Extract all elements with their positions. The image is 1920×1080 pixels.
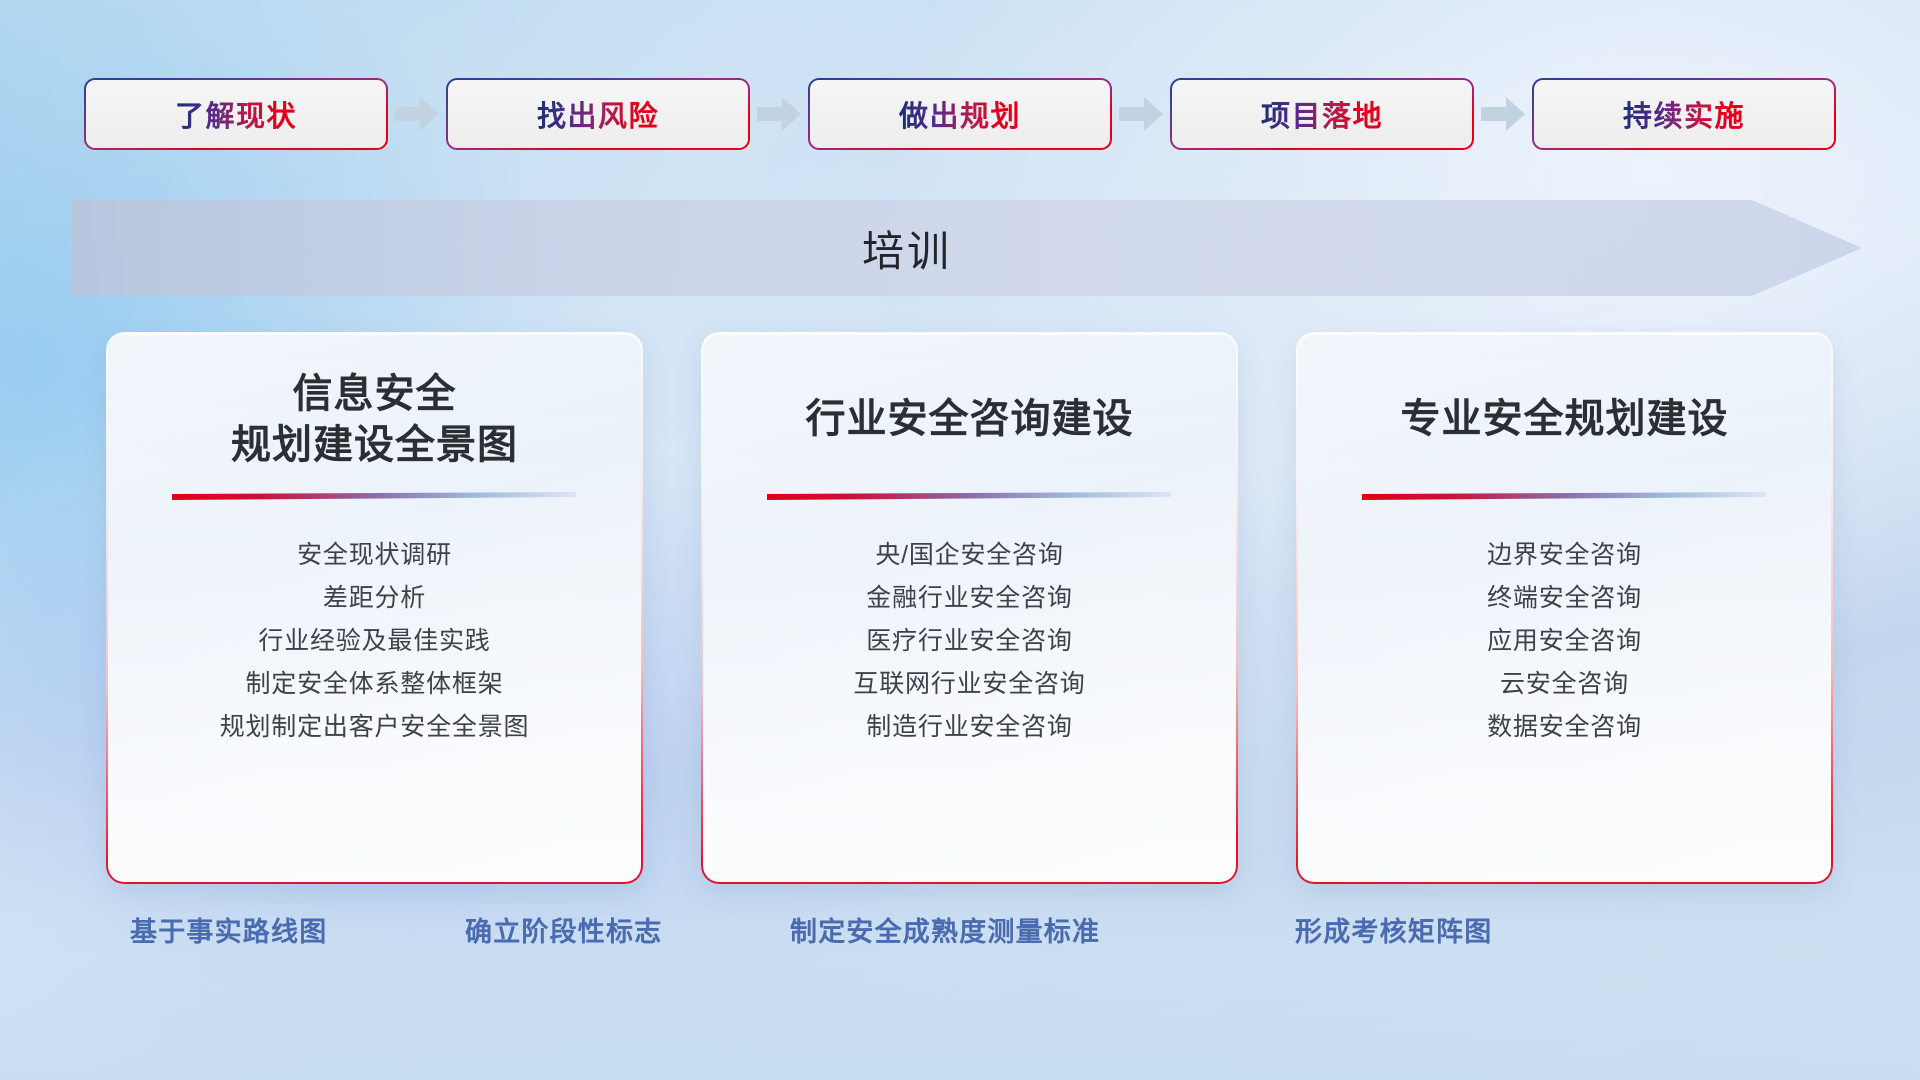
step-chip-2[interactable]: 找出风险 (448, 80, 748, 148)
card-item-list: 安全现状调研 差距分析 行业经验及最佳实践 制定安全体系整体框架 规划制定出客户… (134, 534, 615, 749)
step-label: 持续实施 (1623, 93, 1745, 135)
training-banner: 培训 (72, 200, 1862, 296)
list-item: 互联网行业安全咨询 (729, 663, 1210, 706)
step-label: 做出规划 (899, 93, 1021, 135)
gradient-divider-icon (172, 492, 576, 500)
process-step-row: 了解现状 找出风险 做出规划 项目落地 持续实施 (0, 78, 1920, 150)
list-item: 云安全咨询 (1324, 663, 1805, 706)
list-item: 规划制定出客户安全全景图 (134, 706, 615, 749)
step-chip-3[interactable]: 做出规划 (810, 80, 1110, 148)
gradient-divider-icon (767, 492, 1171, 500)
step-chip-1[interactable]: 了解现状 (86, 80, 386, 148)
step-label: 找出风险 (537, 93, 659, 135)
step-label: 了解现状 (175, 93, 297, 135)
arrow-right-icon (1110, 94, 1172, 134)
card-title: 行业安全咨询建设 (729, 368, 1210, 472)
footer-label: 制定安全成熟度测量标准 (790, 910, 1100, 949)
list-item: 数据安全咨询 (1324, 706, 1805, 749)
step-label: 项目落地 (1261, 93, 1383, 135)
list-item: 终端安全咨询 (1324, 577, 1805, 620)
card-title-line: 行业安全咨询建设 (729, 394, 1210, 445)
step-chip-4[interactable]: 项目落地 (1172, 80, 1472, 148)
footer-label-row: 基于事实路线图 确立阶段性标志 制定安全成熟度测量标准 形成考核矩阵图 (0, 910, 1920, 958)
list-item: 行业经验及最佳实践 (134, 620, 615, 663)
list-item: 边界安全咨询 (1324, 534, 1805, 577)
card-item-list: 央/国企安全咨询 金融行业安全咨询 医疗行业安全咨询 互联网行业安全咨询 制造行… (729, 534, 1210, 749)
banner-title: 培训 (72, 200, 1742, 296)
list-item: 金融行业安全咨询 (729, 577, 1210, 620)
card-title: 专业安全规划建设 (1324, 368, 1805, 472)
card-title-line: 规划建设全景图 (134, 420, 615, 471)
card-title-line: 信息安全 (134, 369, 615, 420)
list-item: 应用安全咨询 (1324, 620, 1805, 663)
card-title: 信息安全 规划建设全景图 (134, 368, 615, 472)
card-professional-security-planning[interactable]: 专业安全规划建设 边界安全咨询 终端安全咨询 应用安全咨询 (1298, 334, 1831, 882)
arrow-right-icon (748, 94, 810, 134)
footer-label: 确立阶段性标志 (465, 910, 662, 949)
arrow-right-icon (386, 94, 448, 134)
list-item: 制定安全体系整体框架 (134, 663, 615, 706)
card-industry-security-consulting[interactable]: 行业安全咨询建设 央/国企安全咨询 金融行业安全咨询 医疗行业安全咨 (703, 334, 1236, 882)
card-title-line: 专业安全规划建设 (1324, 394, 1805, 445)
list-item: 制造行业安全咨询 (729, 706, 1210, 749)
card-row: 信息安全 规划建设全景图 安全现状调研 差距分析 行业经 (108, 334, 1900, 882)
gradient-divider-icon (1362, 492, 1766, 500)
footer-label: 形成考核矩阵图 (1295, 910, 1492, 949)
list-item: 安全现状调研 (134, 534, 615, 577)
card-information-security-blueprint[interactable]: 信息安全 规划建设全景图 安全现状调研 差距分析 行业经 (108, 334, 641, 882)
list-item: 央/国企安全咨询 (729, 534, 1210, 577)
list-item: 医疗行业安全咨询 (729, 620, 1210, 663)
card-item-list: 边界安全咨询 终端安全咨询 应用安全咨询 云安全咨询 数据安全咨询 (1324, 534, 1805, 749)
arrow-right-icon (1472, 94, 1534, 134)
footer-label: 基于事实路线图 (130, 910, 327, 949)
step-chip-5[interactable]: 持续实施 (1534, 80, 1834, 148)
list-item: 差距分析 (134, 577, 615, 620)
